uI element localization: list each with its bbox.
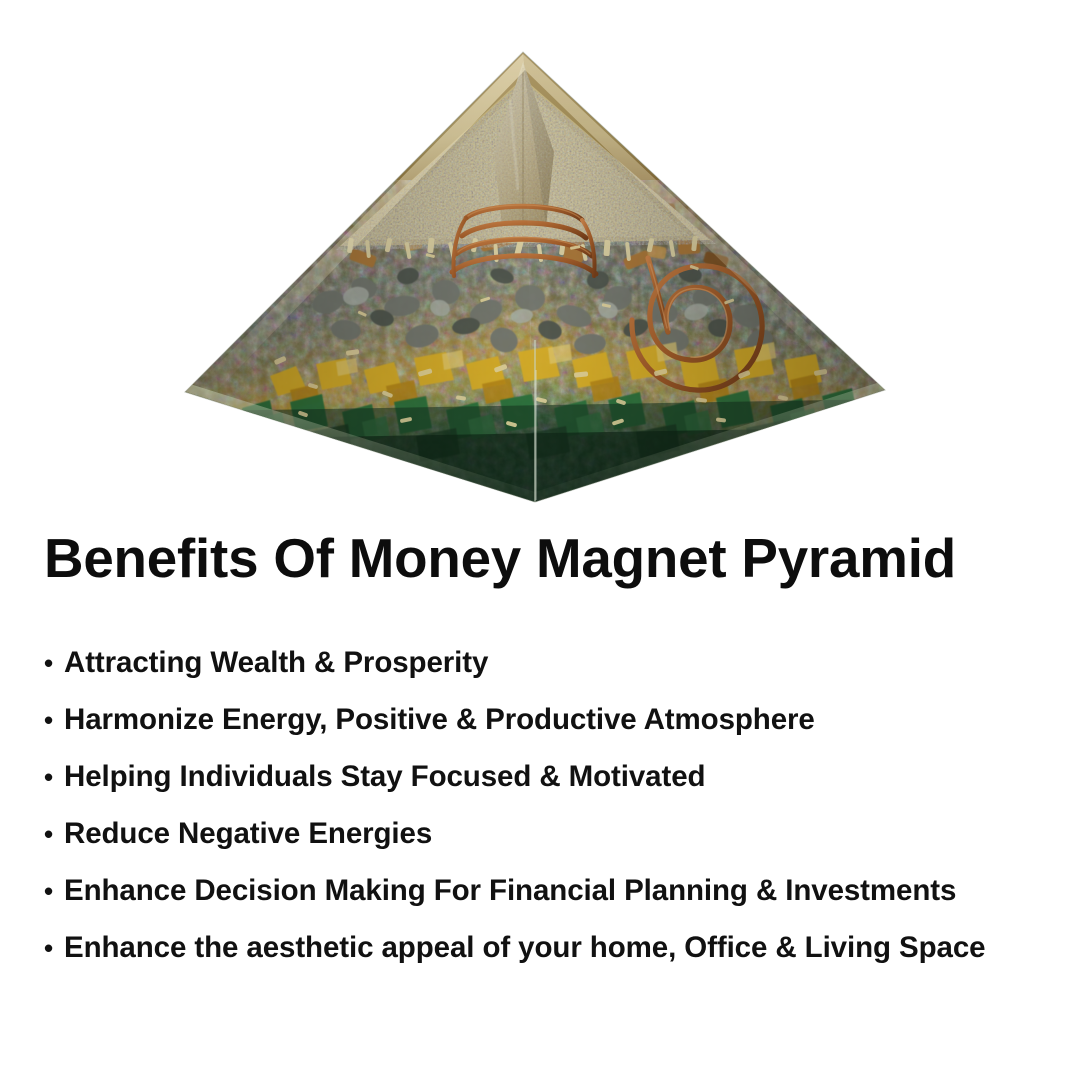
list-item: •Attracting Wealth & Prosperity [44, 634, 1054, 691]
benefit-text: Harmonize Energy, Positive & Productive … [64, 703, 815, 736]
list-item: •Reduce Negative Energies [44, 805, 1054, 862]
list-item: •Harmonize Energy, Positive & Productive… [44, 691, 1054, 748]
benefit-text: Attracting Wealth & Prosperity [64, 646, 488, 679]
benefits-list: •Attracting Wealth & Prosperity •Harmoni… [44, 634, 1054, 976]
bullet-icon: • [44, 635, 64, 692]
bullet-icon: • [44, 863, 64, 920]
product-benefits-page: Benefits Of Money Magnet Pyramid •Attrac… [0, 0, 1080, 1072]
pyramid-body [150, 40, 950, 520]
product-image-area [0, 0, 1080, 520]
list-item: •Helping Individuals Stay Focused & Moti… [44, 748, 1054, 805]
benefit-text: Reduce Negative Energies [64, 817, 432, 850]
bullet-icon: • [44, 692, 64, 749]
benefit-text: Helping Individuals Stay Focused & Motiv… [64, 760, 705, 793]
list-item: •Enhance the aesthetic appeal of your ho… [44, 919, 1054, 976]
list-item: •Enhance Decision Making For Financial P… [44, 862, 1054, 919]
bullet-icon: • [44, 749, 64, 806]
benefit-text: Enhance the aesthetic appeal of your hom… [64, 931, 985, 964]
right-face-shading [150, 40, 950, 520]
benefit-text: Enhance Decision Making For Financial Pl… [64, 874, 956, 907]
bullet-icon: • [44, 920, 64, 977]
pyramid-icon [150, 40, 950, 520]
orgone-pyramid-image [150, 40, 950, 520]
bullet-icon: • [44, 806, 64, 863]
page-title: Benefits Of Money Magnet Pyramid [44, 527, 1045, 589]
